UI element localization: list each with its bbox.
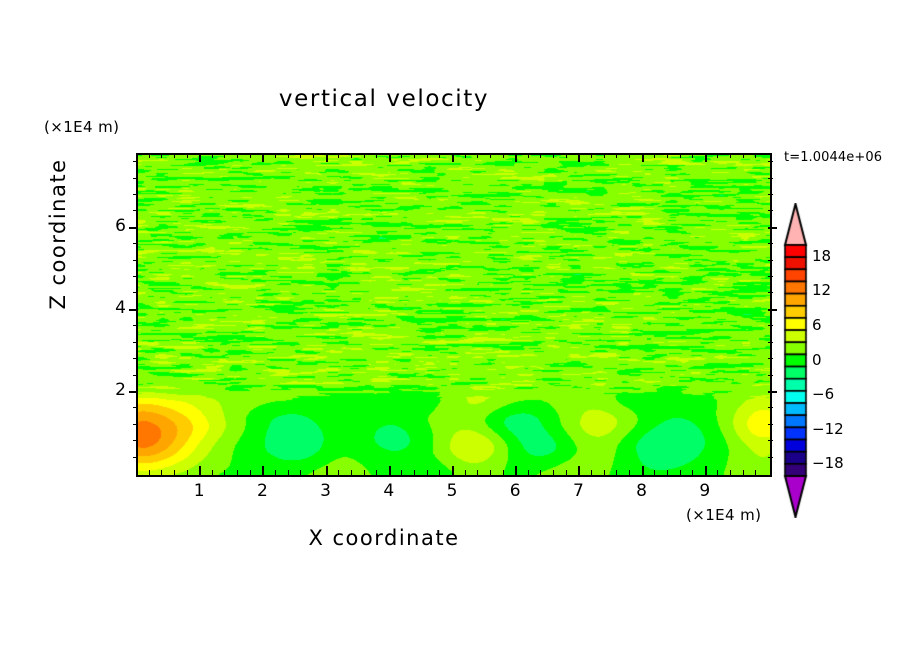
- tick-mark: [692, 153, 693, 158]
- colorbar-tick-label: 12: [812, 281, 831, 299]
- colorbar-tick-label: 6: [812, 316, 822, 334]
- tick-mark: [224, 470, 225, 475]
- tick-mark: [133, 440, 138, 441]
- tick-mark: [768, 440, 773, 441]
- tick-mark: [300, 153, 301, 158]
- tick-mark: [129, 391, 138, 393]
- tick-mark: [212, 153, 213, 158]
- tick-mark: [768, 391, 777, 393]
- tick-mark: [768, 424, 773, 425]
- tick-mark: [591, 470, 592, 475]
- tick-mark: [237, 153, 238, 158]
- time-annotation: t=1.0044e+06: [784, 150, 882, 165]
- tick-mark: [616, 470, 617, 475]
- tick-mark: [717, 470, 718, 475]
- tick-mark: [401, 470, 402, 475]
- x-axis-unit-label: (×1E4 m): [686, 506, 761, 524]
- tick-mark: [654, 470, 655, 475]
- colorbar-tick-label: −6: [812, 385, 834, 403]
- tick-mark: [133, 375, 138, 376]
- colorbar-swatches: [781, 203, 811, 518]
- tick-mark: [237, 470, 238, 475]
- tick-mark: [465, 153, 466, 158]
- tick-mark: [338, 153, 339, 158]
- x-axis-title: X coordinate: [0, 526, 768, 550]
- tick-mark: [578, 466, 580, 475]
- tick-mark: [642, 153, 644, 162]
- x-tick-label: 1: [179, 481, 219, 501]
- figure-canvas: vertical velocity (×1E4 m) (×1E4 m) X co…: [0, 0, 904, 654]
- tick-mark: [300, 470, 301, 475]
- tick-mark: [730, 153, 731, 158]
- tick-mark: [616, 153, 617, 158]
- tick-mark: [768, 243, 773, 244]
- tick-mark: [439, 153, 440, 158]
- tick-mark: [224, 153, 225, 158]
- y-tick-label: 2: [96, 380, 126, 400]
- tick-mark: [553, 153, 554, 158]
- tick-mark: [768, 276, 773, 277]
- tick-mark: [540, 153, 541, 158]
- tick-mark: [364, 470, 365, 475]
- x-tick-label: 2: [242, 481, 282, 501]
- tick-mark: [262, 466, 264, 475]
- tick-mark: [250, 470, 251, 475]
- tick-mark: [326, 466, 328, 475]
- tick-mark: [503, 153, 504, 158]
- tick-mark: [755, 153, 756, 158]
- tick-mark: [133, 276, 138, 277]
- tick-mark: [326, 153, 328, 162]
- x-tick-label: 5: [432, 481, 472, 501]
- tick-mark: [768, 227, 777, 229]
- tick-mark: [490, 153, 491, 158]
- x-tick-label: 4: [369, 481, 409, 501]
- tick-mark: [743, 470, 744, 475]
- tick-mark: [338, 470, 339, 475]
- tick-mark: [717, 153, 718, 158]
- tick-mark: [452, 153, 454, 162]
- tick-mark: [427, 470, 428, 475]
- colorbar-tick-label: −12: [812, 420, 844, 438]
- tick-mark: [768, 210, 773, 211]
- tick-mark: [768, 260, 773, 261]
- tick-mark: [768, 161, 773, 162]
- tick-mark: [199, 466, 201, 475]
- tick-mark: [161, 153, 162, 158]
- tick-mark: [528, 153, 529, 158]
- tick-mark: [730, 470, 731, 475]
- tick-mark: [680, 153, 681, 158]
- tick-mark: [262, 153, 264, 162]
- tick-mark: [553, 470, 554, 475]
- tick-mark: [174, 470, 175, 475]
- tick-mark: [389, 153, 391, 162]
- x-tick-label: 6: [495, 481, 535, 501]
- tick-mark: [288, 470, 289, 475]
- tick-mark: [452, 466, 454, 475]
- tick-mark: [566, 470, 567, 475]
- tick-mark: [129, 227, 138, 229]
- tick-mark: [490, 470, 491, 475]
- x-tick-label: 8: [622, 481, 662, 501]
- y-axis-title: Z coordinate: [46, 114, 70, 354]
- tick-mark: [604, 470, 605, 475]
- tick-mark: [680, 470, 681, 475]
- tick-mark: [199, 153, 201, 162]
- tick-mark: [768, 342, 773, 343]
- tick-mark: [578, 153, 580, 162]
- tick-mark: [133, 325, 138, 326]
- tick-mark: [768, 358, 773, 359]
- tick-mark: [414, 470, 415, 475]
- tick-mark: [149, 470, 150, 475]
- tick-mark: [515, 466, 517, 475]
- tick-mark: [768, 292, 773, 293]
- tick-mark: [275, 153, 276, 158]
- tick-mark: [768, 309, 777, 311]
- tick-mark: [768, 457, 773, 458]
- tick-mark: [133, 210, 138, 211]
- tick-mark: [161, 470, 162, 475]
- tick-mark: [288, 153, 289, 158]
- tick-mark: [768, 325, 773, 326]
- tick-mark: [768, 178, 773, 179]
- tick-mark: [149, 153, 150, 158]
- tick-mark: [654, 153, 655, 158]
- tick-mark: [692, 470, 693, 475]
- tick-mark: [187, 153, 188, 158]
- tick-mark: [133, 260, 138, 261]
- tick-mark: [351, 153, 352, 158]
- tick-mark: [133, 178, 138, 179]
- colorbar-tick-label: −18: [812, 454, 844, 472]
- tick-mark: [133, 194, 138, 195]
- tick-mark: [515, 153, 517, 162]
- tick-mark: [743, 153, 744, 158]
- contour-plot-area: [136, 153, 772, 477]
- tick-mark: [133, 161, 138, 162]
- tick-mark: [477, 470, 478, 475]
- tick-mark: [755, 470, 756, 475]
- tick-mark: [133, 457, 138, 458]
- tick-mark: [566, 153, 567, 158]
- tick-mark: [250, 153, 251, 158]
- tick-mark: [351, 470, 352, 475]
- tick-mark: [133, 424, 138, 425]
- y-tick-label: 4: [96, 298, 126, 318]
- tick-mark: [667, 470, 668, 475]
- tick-mark: [642, 466, 644, 475]
- tick-mark: [187, 470, 188, 475]
- tick-mark: [768, 375, 773, 376]
- tick-mark: [133, 342, 138, 343]
- vertical-velocity-field: [138, 155, 770, 475]
- tick-mark: [439, 470, 440, 475]
- tick-mark: [768, 194, 773, 195]
- page-title: vertical velocity: [0, 86, 768, 112]
- tick-mark: [705, 153, 707, 162]
- tick-mark: [705, 466, 707, 475]
- tick-mark: [540, 470, 541, 475]
- tick-mark: [133, 358, 138, 359]
- tick-mark: [591, 153, 592, 158]
- tick-mark: [629, 153, 630, 158]
- tick-mark: [212, 470, 213, 475]
- tick-mark: [133, 243, 138, 244]
- tick-mark: [133, 407, 138, 408]
- tick-mark: [477, 153, 478, 158]
- tick-mark: [376, 153, 377, 158]
- colorbar-tick-label: 0: [812, 351, 822, 369]
- tick-mark: [376, 470, 377, 475]
- tick-mark: [427, 153, 428, 158]
- colorbar-tick-label: 18: [812, 247, 831, 265]
- colorbar: [781, 203, 811, 518]
- tick-mark: [401, 153, 402, 158]
- tick-mark: [364, 153, 365, 158]
- tick-mark: [129, 309, 138, 311]
- tick-mark: [133, 292, 138, 293]
- x-tick-label: 7: [558, 481, 598, 501]
- tick-mark: [604, 153, 605, 158]
- x-tick-label: 9: [685, 481, 725, 501]
- tick-mark: [313, 153, 314, 158]
- tick-mark: [528, 470, 529, 475]
- tick-mark: [389, 466, 391, 475]
- tick-mark: [174, 153, 175, 158]
- tick-mark: [275, 470, 276, 475]
- tick-mark: [465, 470, 466, 475]
- tick-mark: [503, 470, 504, 475]
- tick-mark: [768, 407, 773, 408]
- tick-mark: [667, 153, 668, 158]
- tick-mark: [414, 153, 415, 158]
- x-tick-label: 3: [306, 481, 346, 501]
- tick-mark: [629, 470, 630, 475]
- y-tick-label: 6: [96, 216, 126, 236]
- tick-mark: [313, 470, 314, 475]
